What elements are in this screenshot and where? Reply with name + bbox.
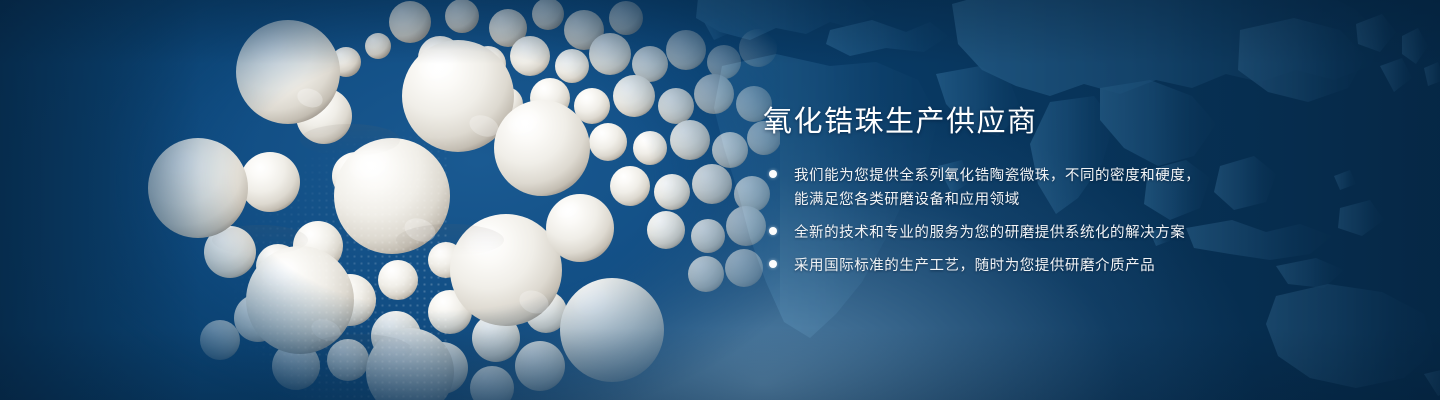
bullet-line: 能满足您各类研磨设备和应用领域 [794,188,1200,212]
bullet-dot-icon [769,227,777,235]
bullet-line: 采用国际标准的生产工艺，随时为您提供研磨介质产品 [794,254,1155,278]
banner-bullet-list: 我们能为您提供全系列氧化锆陶瓷微珠，不同的密度和硬度， 能满足您各类研磨设备和应… [763,164,1363,278]
bullet-text-2: 全新的技术和专业的服务为您的研磨提供系统化的解决方案 [794,221,1185,245]
bullet-dot-icon [769,170,777,178]
bullet-item-3: 采用国际标准的生产工艺，随时为您提供研磨介质产品 [763,254,1363,278]
bullet-text-1: 我们能为您提供全系列氧化锆陶瓷微珠，不同的密度和硬度， 能满足您各类研磨设备和应… [794,164,1200,212]
hero-banner: 氧化锆珠生产供应商 我们能为您提供全系列氧化锆陶瓷微珠，不同的密度和硬度， 能满… [0,0,1440,400]
bullet-text-3: 采用国际标准的生产工艺，随时为您提供研磨介质产品 [794,254,1155,278]
banner-headline: 氧化锆珠生产供应商 [763,104,1363,138]
banner-copy: 氧化锆珠生产供应商 我们能为您提供全系列氧化锆陶瓷微珠，不同的密度和硬度， 能满… [763,104,1363,278]
bullet-item-2: 全新的技术和专业的服务为您的研磨提供系统化的解决方案 [763,221,1363,245]
bullet-line: 全新的技术和专业的服务为您的研磨提供系统化的解决方案 [794,221,1185,245]
zirconia-beads-photo [110,0,780,400]
bullet-line: 我们能为您提供全系列氧化锆陶瓷微珠，不同的密度和硬度， [794,164,1200,188]
bullet-item-1: 我们能为您提供全系列氧化锆陶瓷微珠，不同的密度和硬度， 能满足您各类研磨设备和应… [763,164,1363,212]
bullet-dot-icon [769,260,777,268]
